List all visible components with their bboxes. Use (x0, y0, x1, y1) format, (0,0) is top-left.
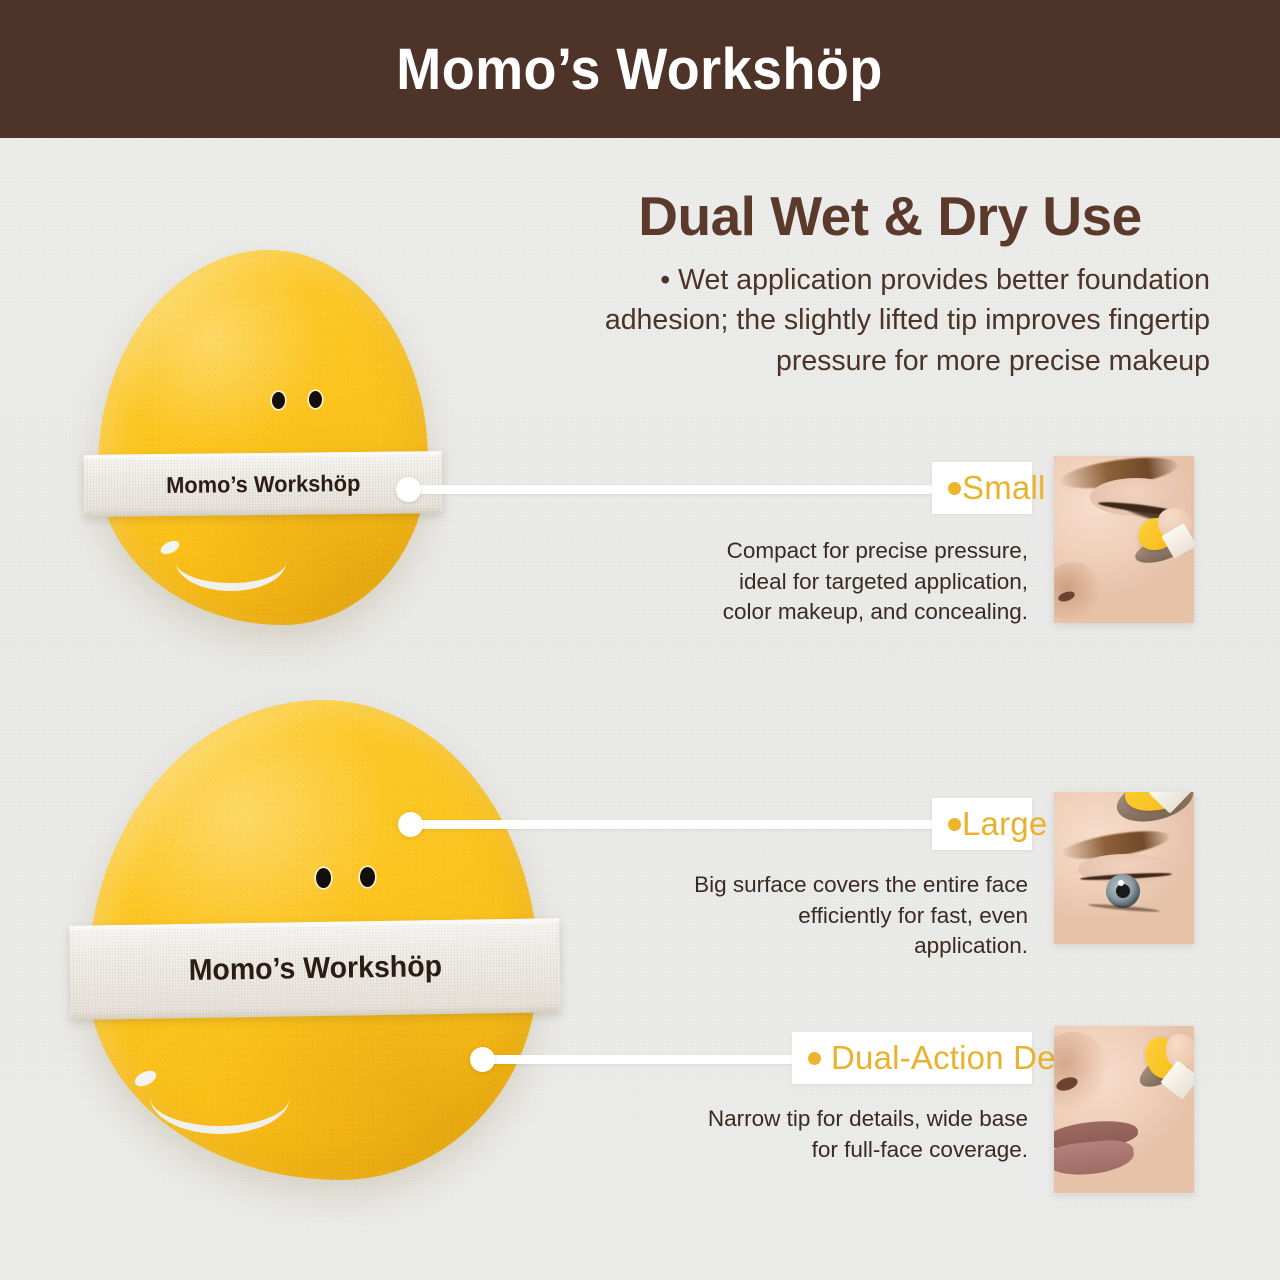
connector-dot-small (396, 477, 421, 502)
eye-left-icon (316, 868, 331, 888)
smile-highlight-icon (150, 1060, 290, 1134)
callout-description-small: Compact for precise pressure, ideal for … (690, 536, 1028, 628)
callout-chip-dual-action[interactable]: Dual-Action Design (792, 1032, 1032, 1084)
callout-chip-large[interactable]: Large (932, 798, 1032, 850)
smile-highlight-icon (176, 533, 286, 591)
brand-band-small: Momo’s Workshöp (84, 451, 443, 517)
brand-band-large: Momo’s Workshöp (69, 918, 560, 1020)
hero-block: Dual Wet & Dry Use • Wet application pro… (570, 188, 1210, 381)
product-puff-small: Momo’s Workshöp (98, 250, 428, 625)
eye-left-icon (272, 392, 285, 409)
callout-label-small: Small (962, 469, 1046, 507)
connector-line-small (404, 485, 934, 494)
callout-description-large: Big surface covers the entire face effic… (690, 870, 1028, 962)
connector-line-large (406, 820, 936, 829)
hero-description: • Wet application provides better founda… (570, 260, 1210, 381)
page-title: Dual Wet & Dry Use (570, 188, 1210, 246)
connector-dot-dual-action (470, 1047, 495, 1072)
photo-small-application (1054, 456, 1194, 623)
connector-dot-large (398, 812, 423, 837)
callout-chip-small[interactable]: Small (932, 462, 1032, 514)
bullet-dot-icon (948, 482, 961, 495)
bullet-dot-icon (948, 818, 961, 831)
eye-glint (1118, 880, 1124, 886)
product-puff-large: Momo’s Workshöp (88, 700, 538, 1180)
brand-title: Momo’s Workshöp (397, 36, 883, 103)
connector-line-dual-action (478, 1055, 808, 1064)
photo-dual-action-application (1054, 1026, 1194, 1193)
eye-right-icon (360, 867, 375, 887)
infographic-page: Momo’s Workshöp Dual Wet & Dry Use • Wet… (0, 0, 1280, 1280)
callout-description-dual-action: Narrow tip for details, wide base for fu… (690, 1104, 1028, 1165)
band-label: Momo’s Workshöp (188, 950, 442, 988)
eye-right-icon (309, 391, 322, 408)
callout-label-large: Large (962, 805, 1047, 843)
photo-large-application (1054, 792, 1194, 944)
bullet-dot-icon (808, 1052, 821, 1065)
band-label: Momo’s Workshöp (166, 469, 361, 498)
pupil-shape (1116, 884, 1130, 898)
header-bar: Momo’s Workshöp (0, 0, 1280, 138)
